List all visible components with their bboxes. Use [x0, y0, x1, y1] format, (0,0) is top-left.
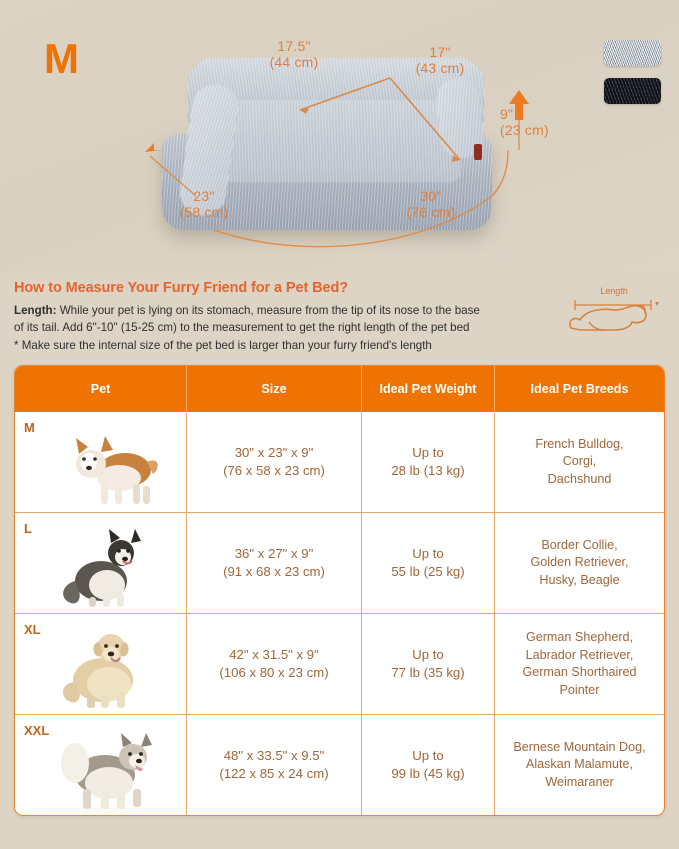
dog-length-diagram-icon: Length: [559, 282, 669, 344]
swatch-dark-charcoal-fur[interactable]: [604, 78, 661, 104]
weight-cell: Up to 99 lb (45 kg): [362, 715, 495, 815]
table-header-row: Pet Size Ideal Pet Weight Ideal Pet Bree…: [15, 366, 664, 412]
pet-cell: XXL: [15, 715, 187, 815]
measure-line-1: While your pet is lying on its stomach, …: [57, 304, 480, 317]
measure-instructions: How to Measure Your Furry Friend for a P…: [0, 272, 679, 354]
pet-cell: L: [15, 513, 187, 613]
dimension-height: 9" (23 cm): [500, 106, 572, 138]
measure-line-3: * Make sure the internal size of the pet…: [14, 339, 432, 352]
dog-photo-malamute: [49, 721, 175, 811]
weight-cell: Up to 28 lb (13 kg): [362, 412, 495, 512]
breeds-cell: German Shepherd, Labrador Retriever, Ger…: [495, 614, 664, 714]
size-badge: M: [44, 38, 80, 80]
length-label: Length:: [14, 304, 57, 317]
size-cell: 30" x 23" x 9" (76 x 58 x 23 cm): [187, 412, 362, 512]
measure-body: Length: While your pet is lying on its s…: [14, 302, 554, 354]
dimension-inner-width: 17.5" (44 cm): [252, 38, 336, 70]
column-header-pet: Pet: [15, 366, 187, 412]
pet-size-letter: L: [24, 520, 32, 538]
dimension-inner-depth: 17" (43 cm): [404, 44, 476, 76]
breeds-cell: French Bulldog, Corgi, Dachshund: [495, 412, 664, 512]
pet-size-letter: M: [24, 419, 35, 437]
pet-size-letter: XL: [24, 621, 41, 639]
dimension-outer-width: 30" (76 cm): [388, 188, 474, 220]
size-cell: 48" x 33.5" x 9.5" (122 x 85 x 24 cm): [187, 715, 362, 815]
size-cell: 36" x 27" x 9" (91 x 68 x 23 cm): [187, 513, 362, 613]
color-swatch-group: [604, 40, 661, 104]
size-cell: 42" x 31.5" x 9" (106 x 80 x 23 cm): [187, 614, 362, 714]
bed-inner-cushion: [204, 100, 462, 182]
dog-photo-border-collie: [49, 519, 175, 609]
dimension-outer-depth: 23" (58 cm): [164, 188, 244, 220]
weight-cell: Up to 77 lb (35 kg): [362, 614, 495, 714]
dog-photo-corgi: [49, 418, 175, 508]
breeds-cell: Border Collie, Golden Retriever, Husky, …: [495, 513, 664, 613]
product-hero: M 17.5" (44 cm) 17" (43 cm) 9" (23 cm) 2…: [0, 0, 679, 272]
column-header-breeds: Ideal Pet Breeds: [495, 366, 664, 412]
swatch-light-grey-fur[interactable]: [604, 40, 661, 66]
weight-cell: Up to 55 lb (25 kg): [362, 513, 495, 613]
brand-tag: [474, 144, 482, 160]
length-caption: Length: [600, 286, 628, 296]
pet-size-letter: XXL: [24, 722, 49, 740]
table-row: L 36" x 27" x 9" (91 x 68 x 23 cm) Up to…: [15, 513, 664, 614]
size-chart-table: Pet Size Ideal Pet Weight Ideal Pet Bree…: [14, 365, 665, 816]
table-row: XXL 48" x 33.5" x 9.5" (122 x 85 x 24 cm…: [15, 715, 664, 815]
pet-cell: XL: [15, 614, 187, 714]
dog-photo-labrador: [49, 620, 175, 710]
column-header-weight: Ideal Pet Weight: [362, 366, 495, 412]
column-header-size: Size: [187, 366, 362, 412]
table-row: M 30" x 23" x 9" (76 x 58 x 23 cm) Up to…: [15, 412, 664, 513]
table-row: XL 42" x 31.5" x 9" (106 x 80 x 23 cm) U…: [15, 614, 664, 715]
pet-cell: M: [15, 412, 187, 512]
measure-line-2: of its tail. Add 6"-10" (15-25 cm) to th…: [14, 321, 470, 334]
breeds-cell: Bernese Mountain Dog, Alaskan Malamute, …: [495, 715, 664, 815]
